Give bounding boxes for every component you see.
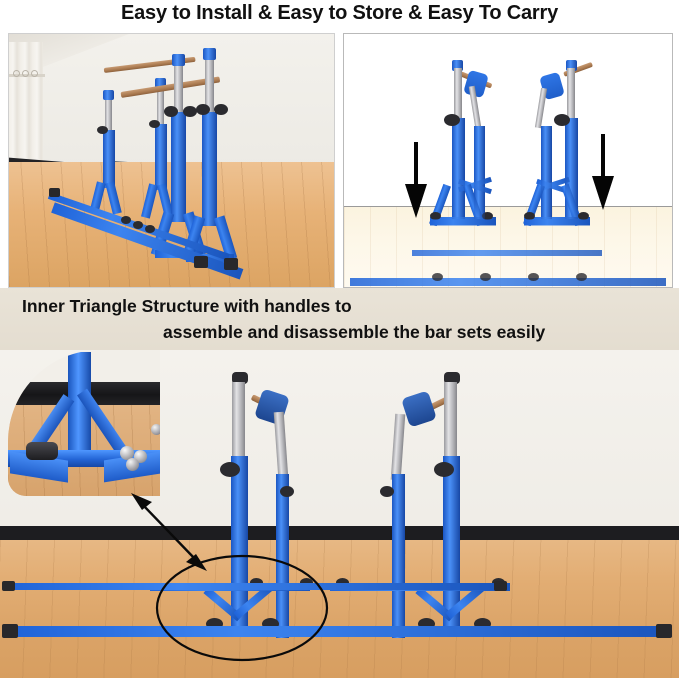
caption-line-2: assemble and disassemble the bar sets ea…: [163, 322, 545, 343]
page-title: Easy to Install & Easy to Store & Easy T…: [0, 0, 679, 26]
storage-rail-cap: [528, 273, 539, 281]
unitB-rear-column: [392, 474, 405, 638]
left-unit-column: [452, 118, 465, 220]
rear-upright-right-column: [155, 124, 167, 190]
rear-left-adjust-knob: [97, 126, 108, 134]
left-unit-foot-cap: [430, 212, 441, 220]
triangle-base-closeup: [8, 350, 160, 496]
height-adjust-photo: [343, 33, 673, 288]
unitB-adjust-knob: [434, 462, 454, 477]
back-rail-end-cap-right: [494, 581, 507, 591]
rear-upright-left-post: [103, 90, 114, 100]
right-unit-adjust-knob: [554, 114, 570, 126]
main-rail-end-cap-right: [656, 624, 672, 638]
gym-wood-floor: [0, 540, 679, 678]
front-right-adjust-knob-2: [214, 104, 228, 115]
front-left-adjust-knob-2: [183, 106, 197, 117]
rail-end-cap: [224, 258, 238, 270]
right-unit-chrome-post: [567, 68, 575, 120]
unitB-adjust-knob-2: [380, 486, 394, 497]
rail-connector: [121, 216, 131, 224]
unitA-rear-column: [276, 474, 289, 638]
main-front-rail: [4, 626, 672, 637]
front-upright-left-column: [171, 112, 186, 222]
down-arrow-right-icon: [592, 134, 614, 210]
rear-upright-left-column: [103, 130, 115, 188]
storage-rail-cap: [576, 273, 587, 281]
main-back-rail: [4, 583, 504, 590]
light-floor: [344, 207, 672, 287]
rear-right-adjust-knob: [149, 120, 160, 128]
lower-feature-panel: Inner Triangle Structure with handles to…: [0, 288, 679, 678]
rail-end-cap: [49, 188, 60, 197]
left-unit-adjust-knob: [444, 114, 460, 126]
right-unit-foot-cap: [524, 212, 535, 220]
lower-caption-block: Inner Triangle Structure with handles to…: [0, 288, 679, 350]
rail-end-cap: [194, 256, 208, 268]
unitB-chrome-post: [444, 382, 457, 460]
main-rail-end-cap-left: [2, 624, 18, 638]
gym-baseboard: [0, 526, 679, 540]
down-arrow-left-icon: [405, 142, 427, 218]
curtain-ring: [31, 70, 38, 77]
curtain-ring: [13, 70, 20, 77]
unitA-adjust-knob-2: [280, 486, 294, 497]
rail-connector: [145, 225, 155, 233]
right-unit-rear-column: [541, 126, 552, 222]
left-unit-foot-cap: [482, 212, 493, 220]
installed-bars-photo: [8, 33, 335, 288]
front-upright-right-column: [202, 112, 217, 226]
back-rail-end-cap-left: [2, 581, 15, 591]
storage-rail-cap: [480, 273, 491, 281]
front-left-adjust-knob: [164, 106, 178, 117]
unitA-chrome-post: [232, 382, 245, 460]
closeup-bolt: [151, 424, 160, 435]
front-right-adjust-knob: [196, 104, 210, 115]
storage-rail-cap: [432, 273, 443, 281]
unitA-adjust-knob: [220, 462, 240, 477]
closeup-bolt: [126, 458, 139, 471]
storage-floor-rail: [350, 278, 666, 286]
right-unit-foot-cap: [578, 212, 589, 220]
product-feature-image: Easy to Install & Easy to Store & Easy T…: [0, 0, 679, 678]
curtain-ring: [22, 70, 29, 77]
caption-line-1: Inner Triangle Structure with handles to: [22, 296, 352, 317]
left-unit-chrome-post: [454, 68, 462, 120]
front-upright-right-top: [203, 48, 216, 60]
closeup-handle-knob: [26, 442, 58, 460]
front-upright-left-top: [172, 54, 185, 66]
rail-connector: [133, 221, 143, 229]
storage-mid-rail: [412, 250, 602, 256]
